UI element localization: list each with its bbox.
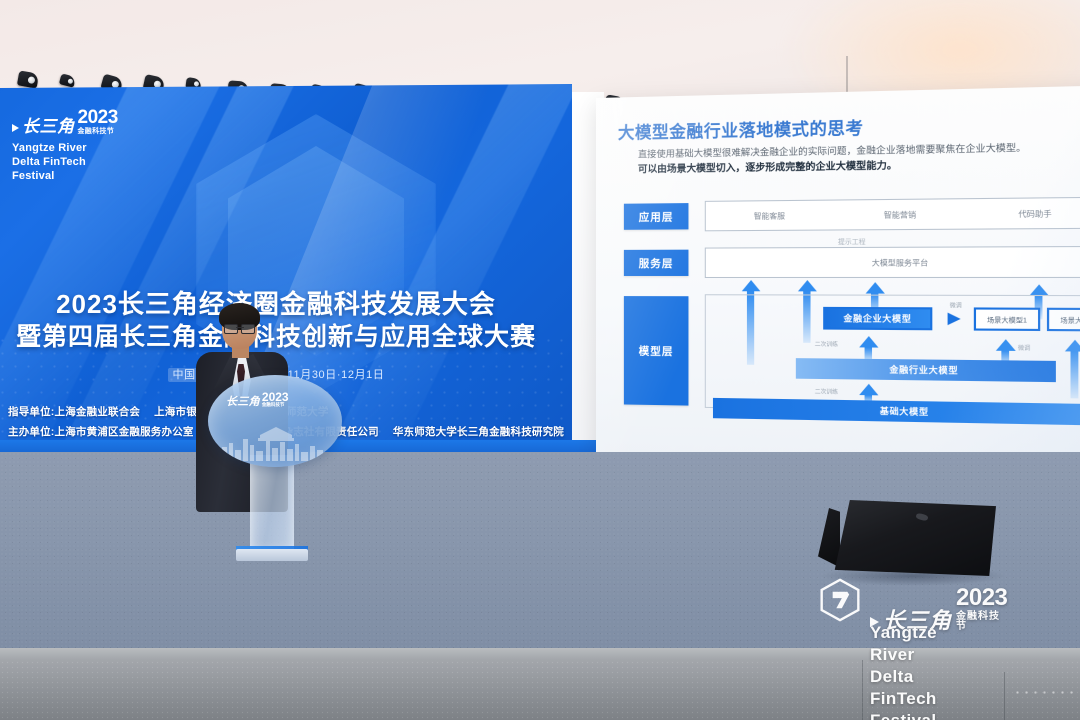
logo-arrow-icon — [12, 124, 19, 132]
slide-service-layer-box: 大模型服务平台 — [705, 246, 1080, 278]
sponsor-org: 上海市黄浦区金融服务办公室 — [55, 426, 194, 438]
presentation-screen: 大模型金融行业落地模式的思考 直接使用基础大模型很难解决金融企业的实际问题，金融… — [596, 85, 1080, 471]
podium-logo-sub: 金融科技节 — [262, 403, 289, 408]
slide-app-item-2: 代码助手 — [1018, 207, 1051, 219]
speaker-glasses-bridge — [236, 327, 244, 328]
slide-layer-tag-model: 模型层 — [624, 296, 689, 406]
up-arrow-head-icon — [742, 280, 761, 291]
festival-logo-en-line1: Yangtze River — [12, 141, 118, 155]
slide-app-item-1: 智能营销 — [884, 209, 916, 221]
up-arrow-head-icon — [1065, 340, 1080, 352]
conference-stage-photo: 长三角 2023 金融科技节 Yangtze River Delta FinTe… — [0, 0, 1080, 720]
watermark-year: 2023 — [956, 586, 1007, 610]
up-arrow-head-icon — [798, 280, 817, 291]
festival-logo-sub: 金融科技节 — [78, 128, 115, 135]
sponsor-label: 主办单位: — [8, 426, 55, 438]
arrow-label-retrain: 二次训练 — [815, 387, 838, 396]
watermark-en-line1: Yangtze River — [870, 622, 937, 666]
right-arrow-icon — [948, 313, 961, 326]
podium-logo: 长三角 2023 金融科技节 — [226, 391, 289, 408]
podium-base — [236, 549, 308, 561]
podium-logo-cn: 长三角 — [226, 397, 260, 408]
sponsor-org: 上海金融业联合会 — [55, 406, 141, 418]
sponsor-label: 指导单位: — [8, 406, 55, 418]
up-arrow-head-icon — [859, 336, 878, 348]
podium-skyline-graphic — [220, 425, 330, 461]
watermark-en: Yangtze River Delta FinTech Festival — [870, 622, 937, 720]
backdrop-title-line1: 2023长三角经济圈金融科技发展大会 — [0, 288, 556, 321]
festival-logo: 长三角 2023 金融科技节 Yangtze River Delta FinTe… — [12, 108, 118, 183]
slide-body-line2: 可以由场景大模型切入，逐步形成完整的企业大模型能力。 — [638, 161, 897, 176]
festival-logo-cn: 长三角 — [22, 118, 75, 135]
slide-body: 直接使用基础大模型很难解决金融企业的实际问题，金融企业落地需要聚焦在企业大模型。… — [638, 139, 1080, 179]
backdrop-title: 2023长三角经济圈金融科技发展大会 暨第四届长三角金融科技创新与应用全球大赛 — [0, 288, 556, 353]
watermark-dot-pattern — [1013, 688, 1079, 700]
slide-model-box-enterprise: 金融企业大模型 — [823, 307, 932, 330]
slide-title: 大模型金融行业落地模式的思考 — [618, 114, 864, 143]
slide-service-item-0: 大模型服务平台 — [872, 257, 929, 269]
watermark-en-line2: Delta FinTech — [870, 666, 937, 710]
floor-tile-line — [1004, 672, 1005, 720]
slide-prompt-engineering-label: 提示工程 — [838, 235, 866, 245]
floor-tile-line — [862, 660, 863, 720]
festival-logo-year: 2023 — [78, 108, 118, 127]
slide-layer-tag-service: 服务层 — [624, 250, 689, 276]
up-arrow-stem — [1071, 351, 1079, 398]
arrow-label-retrain: 二次训练 — [815, 340, 838, 348]
slide-model-box-industry: 金融行业大模型 — [796, 358, 1056, 382]
slide-application-layer-box: 智能客服 智能营销 代码助手 — [705, 197, 1080, 232]
backdrop-title-line2: 暨第四届长三角金融科技创新与应用全球大赛 — [0, 321, 556, 353]
slide-scene-box-1: 场景大模型1 — [974, 307, 1040, 331]
podium-column — [250, 455, 294, 551]
arrow-label-finetune: 微调 — [1018, 344, 1030, 353]
festival-logo-en-line3: Festival — [12, 169, 118, 183]
sponsor-org: 华东师范大学长三角金融科技研究院 — [393, 426, 564, 438]
watermark-sub: 金融科技节 — [956, 612, 1007, 632]
festival-logo-en-line2: Delta FinTech — [12, 155, 118, 169]
slide-app-item-0: 智能客服 — [754, 210, 785, 222]
slide-layer-tag-application: 应用层 — [624, 203, 689, 230]
up-arrow-head-icon — [859, 384, 878, 396]
podium-front-panel: 长三角 2023 金融科技节 — [208, 375, 342, 467]
slide-scene-box-2: 场景大模型2 — [1047, 308, 1080, 332]
up-arrow-head-icon — [996, 339, 1016, 351]
arrow-label-finetune: 微调 — [950, 301, 962, 309]
hexagon-brand-icon — [818, 578, 862, 622]
stage-monitor-speaker — [828, 500, 996, 576]
slide-model-box-base: 基础大模型 — [713, 398, 1080, 426]
festival-logo-en: Yangtze River Delta FinTech Festival — [12, 141, 118, 183]
up-arrow-head-icon — [866, 282, 885, 293]
watermark-en-line3: Festival — [870, 710, 937, 720]
